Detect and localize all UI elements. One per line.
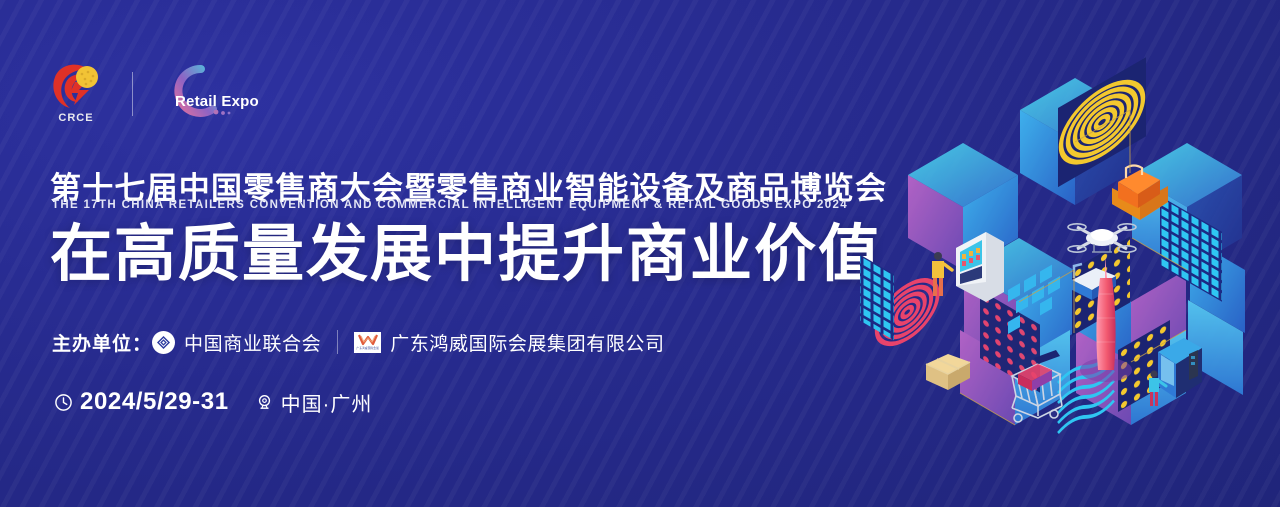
kiosk-person	[1149, 370, 1166, 406]
organizer-item-cbc: 中国商业联合会	[152, 329, 321, 356]
event-location: 中国·广州	[281, 388, 373, 417]
connector-lines	[960, 110, 1187, 425]
event-date: 2024/5/29-31	[80, 388, 229, 416]
cbc-diamond-svg	[155, 334, 172, 351]
crce-logo: CRCE	[48, 60, 110, 128]
map-pin-icon	[255, 393, 274, 412]
isometric-cubes	[908, 78, 1245, 425]
retail-expo-label: Retail Expo	[175, 93, 259, 110]
checker-panel	[1008, 254, 1070, 336]
headline-slogan: 在高质量发展中提升商业价值	[50, 224, 882, 286]
organizer-name-hongwei: 广东鸿威国际会展集团有限公司	[390, 329, 664, 356]
organizer-name-cbc: 中国商业联合会	[184, 329, 321, 356]
vending-machine	[956, 232, 1004, 302]
crce-logo-icon	[48, 60, 104, 112]
illustration-svg	[860, 0, 1280, 507]
cbc-diamond-icon	[152, 331, 175, 354]
drone	[1068, 224, 1136, 252]
canton-tower	[1080, 256, 1132, 382]
event-banner: CRCE Retail Expo 第十七届中国零售商大会暨零售商业智	[0, 0, 1280, 507]
clock-icon	[54, 393, 73, 412]
logo-row: CRCE Retail Expo	[48, 60, 249, 128]
fingerprint-red	[877, 268, 938, 356]
shopping-cart	[1012, 350, 1062, 422]
event-meta-row: 2024/5/29-31 中国·广州	[54, 388, 372, 416]
dot-panel-red	[980, 290, 1040, 393]
grid-panel	[1160, 196, 1222, 302]
scanner-device	[1072, 264, 1116, 300]
crce-mark-svg	[48, 60, 104, 112]
title-english: THE 17TH CHINA RETAILERS CONVENTION AND …	[52, 199, 848, 211]
organizer-separator	[337, 330, 338, 354]
organizers-row: 主办单位： 中国商业联合会 广东鸿威国际会展 广东鸿威	[52, 327, 665, 357]
shopping-bag	[1112, 166, 1168, 221]
hongwei-badge-sub: 广东鸿威国际会展	[357, 346, 379, 350]
organizer-item-hongwei: 广东鸿威国际会展 广东鸿威国际会展集团有限公司	[354, 329, 664, 356]
kiosk-screen	[1158, 338, 1202, 398]
dot-panel-yellow-2	[1118, 320, 1170, 412]
retail-expo-logo: Retail Expo	[153, 63, 249, 125]
hongwei-w-icon: 广东鸿威国际会展	[354, 332, 381, 353]
fingerprint-yellow	[1058, 57, 1146, 187]
hongwei-w-svg	[357, 333, 379, 346]
dot-panel-yellow	[1072, 237, 1130, 336]
shopper-person	[932, 252, 952, 296]
crce-abbr: CRCE	[48, 112, 104, 124]
organizers-label: 主办单位：	[52, 329, 152, 356]
parcel-box	[926, 354, 970, 390]
isometric-retail-tech-illustration	[860, 0, 1280, 507]
wave-panel	[1058, 347, 1114, 437]
logo-divider	[132, 72, 133, 116]
